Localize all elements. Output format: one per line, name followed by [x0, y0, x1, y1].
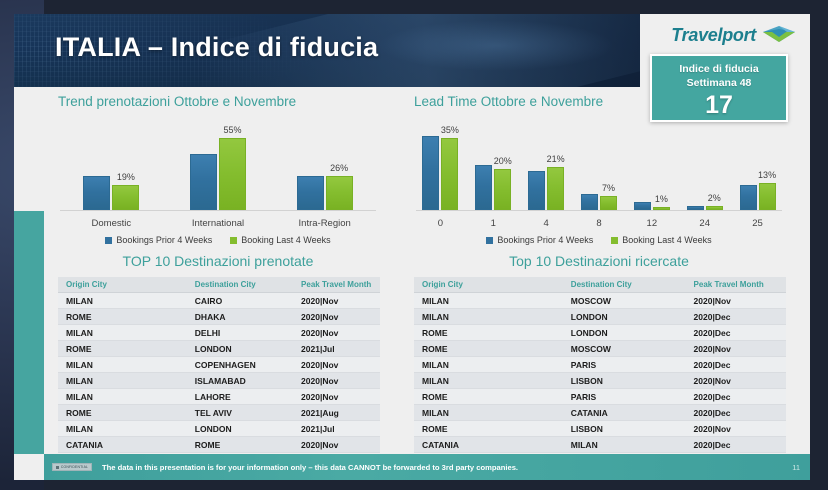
bar-group: 20% — [467, 110, 520, 210]
column-header: Peak Travel Month — [293, 277, 380, 293]
table-row: ROMEDHAKA2020|Nov — [58, 309, 380, 325]
bar-prior-4-weeks — [190, 154, 217, 210]
confidence-index-card: Indice di fiducia Settimana 48 17 — [650, 54, 788, 122]
bar-last-4-weeks: 26% — [326, 176, 353, 210]
table-cell: ROME — [187, 437, 293, 453]
table-header-row: Origin CityDestination CityPeak Travel M… — [414, 277, 786, 293]
table-cell: ROME — [414, 389, 563, 405]
legend-item-last: Booking Last 4 Weeks — [230, 235, 330, 245]
table-header-row: Origin CityDestination CityPeak Travel M… — [58, 277, 380, 293]
table-cell: LONDON — [187, 341, 293, 357]
table-cell: LISBON — [563, 373, 686, 389]
bar-last-4-weeks: 55% — [219, 138, 246, 210]
legend-swatch-green-icon — [230, 237, 237, 244]
column-header: Destination City — [187, 277, 293, 293]
top-destinations-searched-table: Origin CityDestination CityPeak Travel M… — [414, 277, 786, 453]
bar-value-label: 19% — [117, 172, 135, 182]
bar-prior-4-weeks — [634, 202, 651, 210]
table-row: MILANISLAMABAD2020|Nov — [58, 373, 380, 389]
bar-group: 26% — [271, 110, 378, 210]
legend-item-last: Booking Last 4 Weeks — [611, 235, 711, 245]
legend-label-last: Booking Last 4 Weeks — [241, 235, 330, 245]
table-cell: COPENHAGEN — [187, 357, 293, 373]
table-cell: 2020|Nov — [686, 341, 786, 357]
table-cell: 2021|Jul — [293, 341, 380, 357]
legend-swatch-blue-icon — [486, 237, 493, 244]
desktop-top-band — [44, 0, 828, 14]
category-label: 24 — [678, 218, 731, 229]
table-cell: MILAN — [58, 357, 187, 373]
table-row: MILANLONDON2020|Dec — [414, 309, 786, 325]
bar-prior-4-weeks — [422, 136, 439, 210]
table-cell: MILAN — [58, 373, 187, 389]
table-cell: LONDON — [563, 309, 686, 325]
brand-logo: Travelport — [630, 22, 796, 48]
category-label: 0 — [414, 218, 467, 229]
table-cell: ROME — [414, 421, 563, 437]
chart-title-leadtime: Lead Time Ottobre e Novembre — [414, 94, 603, 109]
table-cell: ISLAMABAD — [187, 373, 293, 389]
confidential-badge: CONFIDENTIAL — [52, 463, 92, 471]
bar-last-4-weeks: 20% — [494, 169, 511, 210]
bar-value-label: 21% — [547, 154, 565, 164]
bar-value-label: 1% — [655, 194, 668, 204]
bar-group: 19% — [58, 110, 165, 210]
legend-label-prior: Bookings Prior 4 Weeks — [497, 235, 593, 245]
category-label: 12 — [625, 218, 678, 229]
table-row: ROMEMOSCOW2020|Nov — [414, 341, 786, 357]
category-label: 1 — [467, 218, 520, 229]
table-cell: 2020|Dec — [686, 357, 786, 373]
table-cell: MILAN — [58, 325, 187, 341]
table-cell: CATANIA — [414, 437, 563, 453]
table-row: ROMELISBON2020|Nov — [414, 421, 786, 437]
trend-plot-area: 19%55%26% — [58, 111, 378, 211]
column-header: Origin City — [414, 277, 563, 293]
table-row: CATANIAMILAN2020|Dec — [414, 437, 786, 453]
bar-prior-4-weeks — [83, 176, 110, 210]
legend-item-prior: Bookings Prior 4 Weeks — [105, 235, 212, 245]
desktop-right-band — [810, 0, 828, 490]
category-label: Domestic — [58, 218, 165, 229]
table-row: ROMELONDON2020|Dec — [414, 325, 786, 341]
table-cell: MILAN — [563, 437, 686, 453]
brand-name: Travelport — [671, 25, 756, 46]
table-cell: 2020|Dec — [686, 309, 786, 325]
table-header-booked: Origin CityDestination CityPeak Travel M… — [58, 277, 380, 293]
legend-swatch-green-icon — [611, 237, 618, 244]
bar-value-label: 26% — [330, 163, 348, 173]
bar-prior-4-weeks — [475, 165, 492, 210]
table-row: MILANCOPENHAGEN2020|Nov — [58, 357, 380, 373]
slide-footer: CONFIDENTIAL The data in this presentati… — [44, 454, 810, 480]
table-cell: PARIS — [563, 389, 686, 405]
bar-prior-4-weeks — [687, 206, 704, 210]
table-title-searched: Top 10 Destinazioni ricercate — [414, 253, 784, 269]
bar-value-label: 13% — [758, 170, 776, 180]
legend-label-prior: Bookings Prior 4 Weeks — [116, 235, 212, 245]
table-cell: 2020|Nov — [686, 373, 786, 389]
table-cell: 2020|Dec — [686, 325, 786, 341]
footer-disclaimer: The data in this presentation is for you… — [102, 463, 518, 472]
table-cell: TEL AVIV — [187, 405, 293, 421]
table-cell: 2020|Nov — [293, 309, 380, 325]
table-cell: MILAN — [58, 389, 187, 405]
category-label: 8 — [573, 218, 626, 229]
kpi-label-line2: Settimana 48 — [652, 76, 786, 90]
bar-last-4-weeks: 1% — [653, 207, 670, 210]
category-label: Intra-Region — [271, 218, 378, 229]
table-cell: 2021|Aug — [293, 405, 380, 421]
table-cell: LONDON — [187, 421, 293, 437]
table-cell: MILAN — [58, 293, 187, 309]
kpi-label-line1: Indice di fiducia — [652, 62, 786, 76]
table-row: MILANLISBON2020|Nov — [414, 373, 786, 389]
table-body-searched: MILANMOSCOW2020|NovMILANLONDON2020|DecRO… — [414, 293, 786, 453]
column-header: Destination City — [563, 277, 686, 293]
table-row: MILANLAHORE2020|Nov — [58, 389, 380, 405]
bar-last-4-weeks: 2% — [706, 206, 723, 210]
bar-value-label: 20% — [494, 156, 512, 166]
table-body-booked: MILANCAIRO2020|NovROMEDHAKA2020|NovMILAN… — [58, 293, 380, 453]
table-cell: 2020|Nov — [293, 325, 380, 341]
bar-last-4-weeks: 19% — [112, 185, 139, 210]
bar-last-4-weeks: 13% — [759, 183, 776, 210]
bar-value-label: 35% — [441, 125, 459, 135]
table-cell: ROME — [414, 325, 563, 341]
bar-last-4-weeks: 7% — [600, 196, 617, 210]
bar-group: 35% — [414, 110, 467, 210]
bar-prior-4-weeks — [297, 176, 324, 210]
table-cell: 2020|Dec — [686, 405, 786, 421]
bar-group: 21% — [520, 110, 573, 210]
trend-bar-chart: 19%55%26% Bookings Prior 4 Weeks Booking… — [58, 111, 378, 241]
page-title: ITALIA – Indice di fiducia — [55, 32, 378, 63]
table-cell: CATANIA — [563, 405, 686, 421]
leadtime-plot-area: 35%20%21%7%1%2%13% — [414, 111, 784, 211]
leadtime-chart-legend: Bookings Prior 4 Weeks Booking Last 4 We… — [414, 235, 784, 245]
table-cell: 2020|Nov — [686, 293, 786, 309]
legend-item-prior: Bookings Prior 4 Weeks — [486, 235, 593, 245]
table-title-booked: TOP 10 Destinazioni prenotate — [58, 253, 378, 269]
table-cell: ROME — [58, 309, 187, 325]
bar-value-label: 7% — [602, 183, 615, 193]
table-cell: 2020|Nov — [293, 389, 380, 405]
category-label: International — [165, 218, 272, 229]
table-row: ROMETEL AVIV2021|Aug — [58, 405, 380, 421]
table-cell: PARIS — [563, 357, 686, 373]
table-row: ROMEPARIS2020|Dec — [414, 389, 786, 405]
presentation-slide: ITALIA – Indice di fiducia Travelport In… — [14, 14, 810, 480]
table-cell: MILAN — [58, 421, 187, 437]
table-cell: MILAN — [414, 373, 563, 389]
legend-swatch-blue-icon — [105, 237, 112, 244]
category-label: 4 — [520, 218, 573, 229]
table-header-searched: Origin CityDestination CityPeak Travel M… — [414, 277, 786, 293]
bar-prior-4-weeks — [528, 171, 545, 210]
table-cell: ROME — [58, 341, 187, 357]
top-destinations-booked-table: Origin CityDestination CityPeak Travel M… — [58, 277, 380, 453]
bar-group: 1% — [625, 110, 678, 210]
table-cell: 2020|Nov — [293, 357, 380, 373]
bar-value-label: 2% — [708, 193, 721, 203]
bar-group: 55% — [165, 110, 272, 210]
bar-group: 13% — [731, 110, 784, 210]
kpi-value: 17 — [652, 91, 786, 119]
table-cell: MILAN — [414, 357, 563, 373]
table-row: MILANMOSCOW2020|Nov — [414, 293, 786, 309]
table-cell: 2020|Nov — [686, 421, 786, 437]
table-cell: LISBON — [563, 421, 686, 437]
table-cell: 2020|Nov — [293, 437, 380, 453]
table-cell: 2020|Nov — [293, 373, 380, 389]
slide-page-number: 11 — [792, 463, 800, 472]
table-cell: 2020|Dec — [686, 389, 786, 405]
bar-last-4-weeks: 21% — [547, 167, 564, 210]
table-cell: LAHORE — [187, 389, 293, 405]
bar-group: 2% — [678, 110, 731, 210]
header-glow — [377, 20, 615, 71]
table-cell: MILAN — [414, 405, 563, 421]
confidential-badge-label: CONFIDENTIAL — [61, 465, 88, 469]
trend-axis-line — [60, 210, 376, 211]
bar-value-label: 55% — [223, 125, 241, 135]
table-cell: 2020|Dec — [686, 437, 786, 453]
table-row: MILANLONDON2021|Jul — [58, 421, 380, 437]
table-cell: DHAKA — [187, 309, 293, 325]
table-cell: MOSCOW — [563, 341, 686, 357]
category-label: 25 — [731, 218, 784, 229]
table-row: MILANPARIS2020|Dec — [414, 357, 786, 373]
leadtime-bar-chart: 35%20%21%7%1%2%13% Bookings Prior 4 Week… — [414, 111, 784, 241]
bar-group: 7% — [573, 110, 626, 210]
column-header: Origin City — [58, 277, 187, 293]
table-cell: MILAN — [414, 293, 563, 309]
table-cell: MOSCOW — [563, 293, 686, 309]
table-cell: 2020|Nov — [293, 293, 380, 309]
table-cell: CATANIA — [58, 437, 187, 453]
table-cell: LONDON — [563, 325, 686, 341]
table-cell: DELHI — [187, 325, 293, 341]
table-row: MILANCAIRO2020|Nov — [58, 293, 380, 309]
trend-chart-legend: Bookings Prior 4 Weeks Booking Last 4 We… — [58, 235, 378, 245]
travelport-diamond-icon — [762, 25, 796, 45]
bar-prior-4-weeks — [581, 194, 598, 210]
legend-label-last: Booking Last 4 Weeks — [622, 235, 711, 245]
table-cell: ROME — [58, 405, 187, 421]
table-cell: CAIRO — [187, 293, 293, 309]
table-row: CATANIAROME2020|Nov — [58, 437, 380, 453]
bar-prior-4-weeks — [740, 185, 757, 210]
table-cell: 2021|Jul — [293, 421, 380, 437]
bar-last-4-weeks: 35% — [441, 138, 458, 210]
slide-content: Trend prenotazioni Ottobre e Novembre 19… — [14, 87, 810, 480]
table-row: ROMELONDON2021|Jul — [58, 341, 380, 357]
table-row: MILANDELHI2020|Nov — [58, 325, 380, 341]
table-cell: ROME — [414, 341, 563, 357]
table-row: MILANCATANIA2020|Dec — [414, 405, 786, 421]
chart-title-trend: Trend prenotazioni Ottobre e Novembre — [58, 94, 296, 109]
column-header: Peak Travel Month — [686, 277, 786, 293]
table-cell: MILAN — [414, 309, 563, 325]
leadtime-axis-line — [416, 210, 782, 211]
badge-dot-icon — [56, 466, 59, 469]
